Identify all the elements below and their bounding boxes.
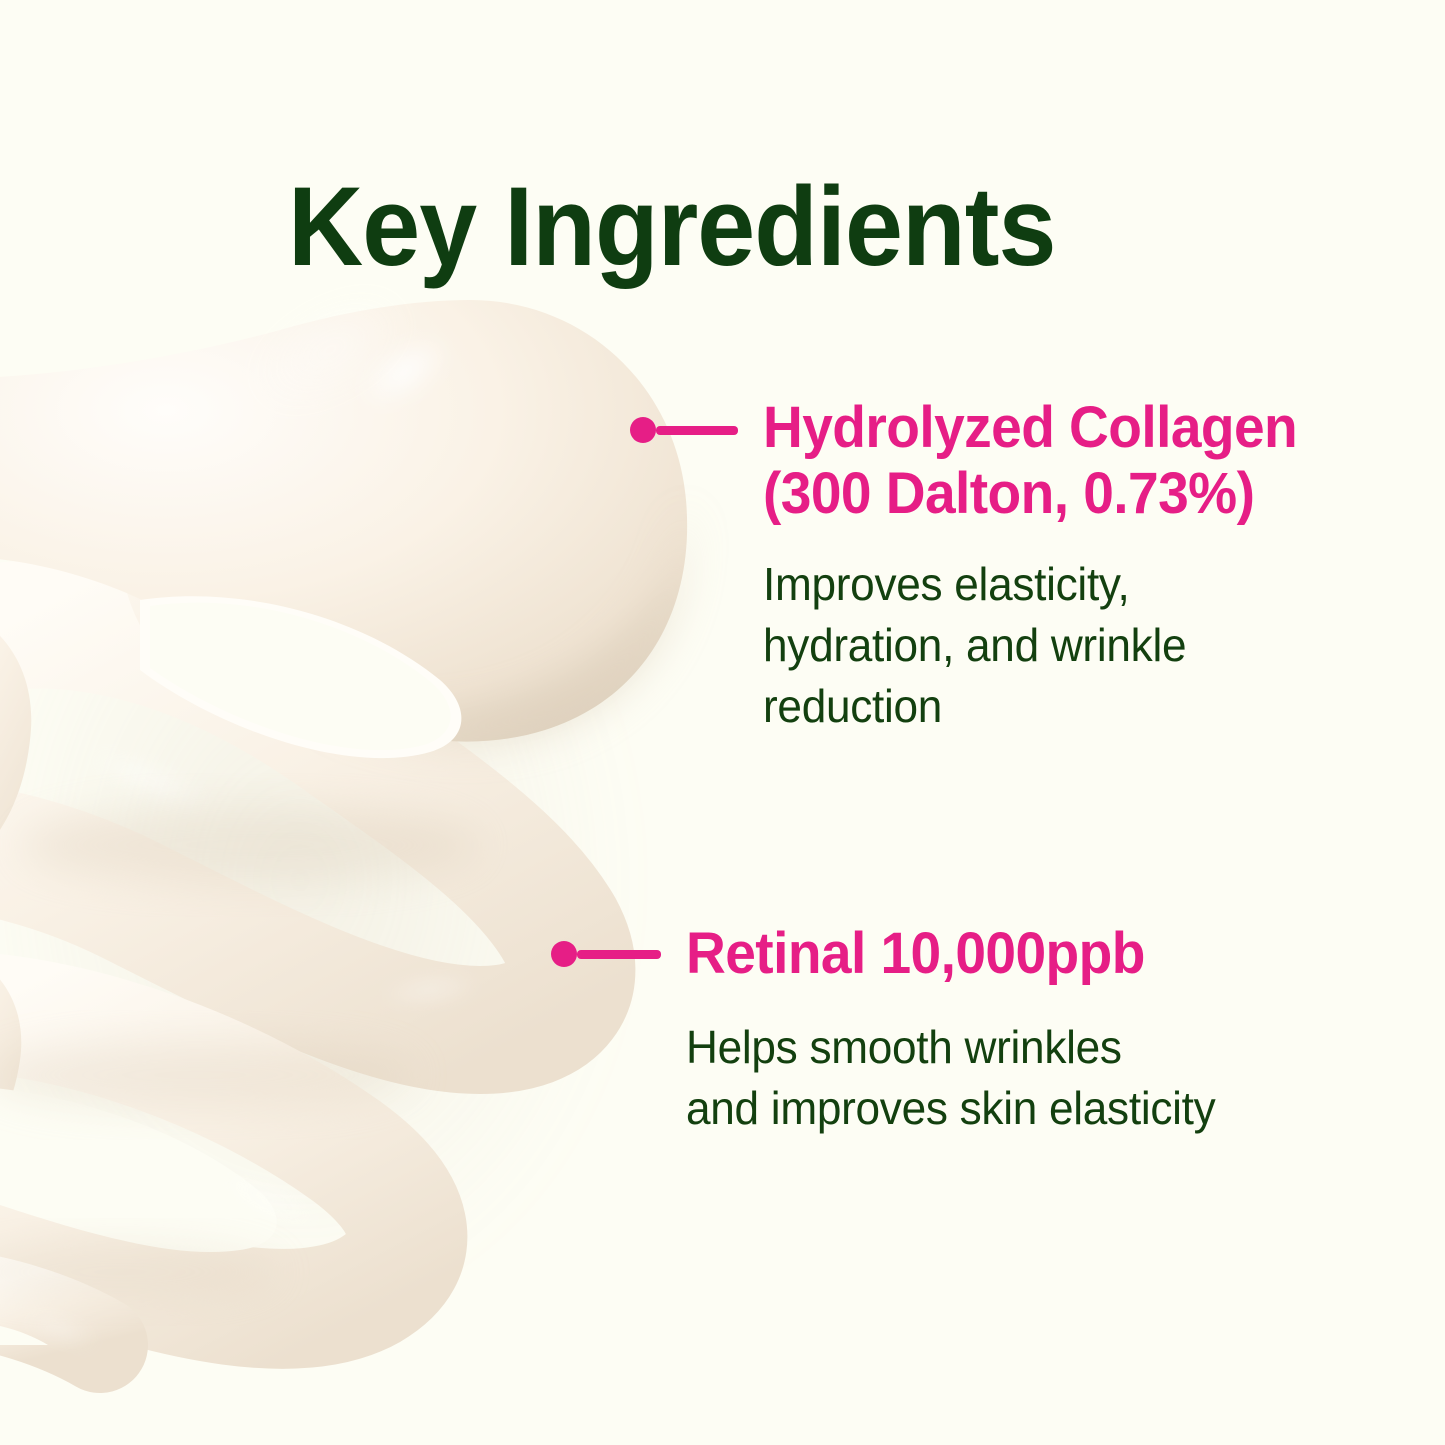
callout-connector-line — [577, 950, 661, 959]
callout-description-line: hydration, and wrinkle — [763, 615, 1303, 676]
callout-description-line: Improves elasticity, — [763, 554, 1303, 615]
key-ingredients-infographic: Key Ingredients Hydrolyzed Collagen (300… — [0, 0, 1445, 1445]
callout-heading-collagen: Hydrolyzed Collagen (300 Dalton, 0.73%) — [763, 395, 1297, 526]
page-title: Key Ingredients — [288, 171, 1125, 283]
cream-ribbon — [0, 600, 571, 1345]
callout-description-collagen: Improves elasticity, hydration, and wrin… — [763, 554, 1303, 738]
callout-description-retinal: Helps smooth wrinkles and improves skin … — [686, 1017, 1215, 1139]
callout-body-collagen: Hydrolyzed Collagen (300 Dalton, 0.73%) … — [763, 395, 1325, 738]
callout-heading-line: (300 Dalton, 0.73%) — [763, 461, 1297, 527]
callout-description-line: reduction — [763, 676, 1303, 737]
callout-description-line: Helps smooth wrinkles — [686, 1017, 1215, 1078]
callout-connector-line — [656, 426, 738, 435]
callout-description-line: and improves skin elasticity — [686, 1078, 1215, 1139]
callout-heading-retinal: Retinal 10,000ppb — [686, 921, 1210, 987]
callout-heading-line: Retinal 10,000ppb — [686, 921, 1210, 987]
callout-heading-line: Hydrolyzed Collagen — [763, 395, 1297, 461]
callout-dot-icon — [630, 417, 656, 443]
callout-body-retinal: Retinal 10,000ppb Helps smooth wrinkles … — [686, 921, 1237, 1139]
callout-dot-icon — [551, 941, 577, 967]
